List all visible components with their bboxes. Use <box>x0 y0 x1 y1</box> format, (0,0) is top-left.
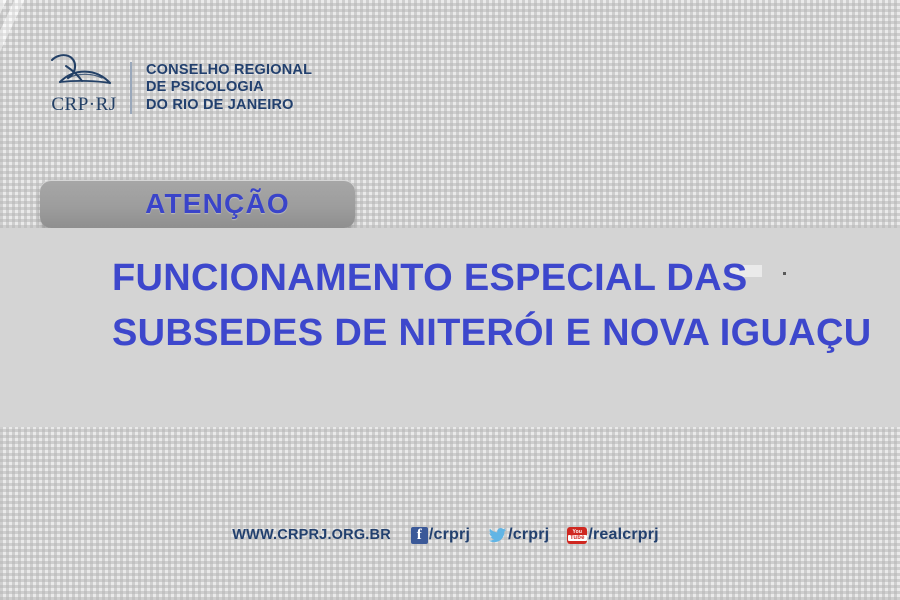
logo-wordmark: CONSELHO REGIONAL DE PSICOLOGIA DO RIO D… <box>146 62 312 115</box>
attention-label: ATENÇÃO <box>105 188 290 220</box>
twitter-icon <box>488 527 507 544</box>
page-title: FUNCIONAMENTO ESPECIAL DAS SUBSEDES DE N… <box>112 251 852 361</box>
facebook-icon: f <box>411 527 428 544</box>
footer-bar: WWW.CRPRJ.ORG.BR f /crprj /crprj You Tub… <box>0 520 900 550</box>
logo-line-2: DE PSICOLOGIA <box>146 79 312 97</box>
logo-line-3: DO RIO DE JANEIRO <box>146 97 312 115</box>
logo-divider <box>130 62 132 114</box>
youtube-handle: /realcrprj <box>588 526 658 544</box>
headline-line-1: FUNCIONAMENTO ESPECIAL DAS <box>112 251 852 306</box>
youtube-word-bottom: Tube <box>568 535 587 541</box>
headline-line-2: SUBSEDES DE NITERÓI E NOVA IGUAÇU <box>112 306 852 361</box>
crp-rj-logo: CRP·RJ CONSELHO REGIONAL DE PSICOLOGIA D… <box>44 52 312 124</box>
twitter-handle: /crprj <box>508 526 549 544</box>
headline-band: FUNCIONAMENTO ESPECIAL DAS SUBSEDES DE N… <box>0 228 900 427</box>
youtube-icon: You Tube <box>567 527 587 544</box>
facebook-handle: /crprj <box>429 526 470 544</box>
twitter-link[interactable]: /crprj <box>488 526 549 544</box>
facebook-link[interactable]: f /crprj <box>411 526 470 544</box>
poster-canvas: CRP·RJ CONSELHO REGIONAL DE PSICOLOGIA D… <box>0 0 900 600</box>
crp-rj-monogram: CRP·RJ <box>46 94 122 116</box>
crp-rj-bird-icon: CRP·RJ <box>44 52 122 124</box>
youtube-word-top: You <box>572 530 582 535</box>
logo-line-1: CONSELHO REGIONAL <box>146 62 312 80</box>
youtube-link[interactable]: You Tube /realcrprj <box>567 526 658 544</box>
attention-banner: ATENÇÃO <box>40 180 355 228</box>
website-url[interactable]: WWW.CRPRJ.ORG.BR <box>232 527 391 543</box>
